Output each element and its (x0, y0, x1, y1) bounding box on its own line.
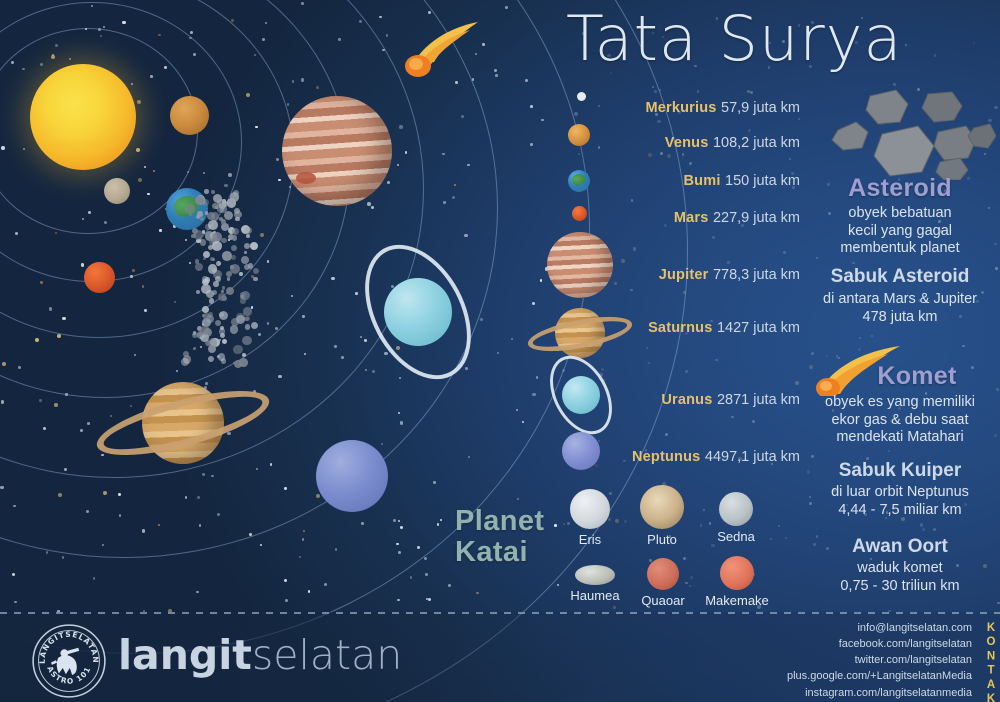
sabuk-asteroid-line1: di antara Mars & Jupiter (800, 291, 1000, 309)
asteroid-description: obyek bebatuan kecil yang gagal membentu… (800, 205, 1000, 258)
planet-name: Jupiter (659, 267, 709, 283)
asteroid-desc-line1: obyek bebatuan (800, 205, 1000, 223)
dwarf-planet-label: Eris (562, 532, 618, 547)
planet-distance: 1427 juta km (717, 320, 800, 336)
dwarf-planet-pluto: Pluto (632, 485, 692, 547)
asteroid-desc-line2: kecil yang gagal (800, 223, 1000, 241)
jupiter-orbit-body (282, 96, 392, 206)
planet-row-merkurius: Merkurius 57,9 juta km (645, 99, 800, 117)
right-info-column: Asteroid obyek bebatuan kecil yang gagal… (800, 0, 1000, 612)
sabuk-kuiper-line1: di luar orbit Neptunus (800, 484, 1000, 502)
planet-row-neptunus: Neptunus 4497,1 juta km (632, 448, 800, 466)
planet-distance: 108,2 juta km (713, 135, 800, 151)
planet-name: Uranus (661, 392, 712, 408)
earth-landmass (174, 196, 200, 218)
sabuk-kuiper-heading: Sabuk Kuiper (800, 460, 1000, 482)
dwarf-planet-makemake: Makemake (702, 556, 772, 608)
awan-oort-line2: 0,75 - 30 triliun km (800, 578, 1000, 596)
comet-illustration (404, 18, 494, 78)
contact-twitter[interactable]: twitter.com/langitselatan (787, 652, 972, 668)
awan-oort-heading: Awan Oort (800, 536, 1000, 558)
dwarf-planet-eris: Eris (562, 489, 618, 547)
planet-distance: 2871 juta km (717, 392, 800, 408)
asteroid-heading: Asteroid (800, 174, 1000, 203)
planet-name: Saturnus (648, 320, 712, 336)
planet-row-uranus: Uranus 2871 juta km (661, 391, 800, 409)
venus-orbit-body (170, 96, 209, 135)
mars-orbit-body (84, 262, 115, 293)
awan-oort-description: waduk komet 0,75 - 30 triliun km (800, 560, 1000, 595)
sabuk-kuiper-line2: 4,44 - 7,5 miliar km (800, 502, 1000, 520)
contact-googleplus[interactable]: plus.google.com/+LangitselatanMedia (787, 668, 972, 684)
neptune-orbit-body (316, 440, 388, 512)
dwarf-planet-haumea: Haumea (565, 565, 625, 603)
wordmark-bold: langit (118, 631, 252, 679)
planet-row-bumi: Bumi 150 juta km (684, 172, 800, 190)
contact-email[interactable]: info@langitselatan.com (787, 620, 972, 636)
komet-description: obyek es yang memiliki ekor gas & debu s… (800, 394, 1000, 447)
komet-desc-line1: obyek es yang memiliki (800, 394, 1000, 412)
langitselatan-seal-logo: LANGITSELATAN ASTRO 101 (30, 622, 108, 700)
planet-distance: 4497,1 juta km (705, 449, 800, 465)
sedna-body (719, 492, 753, 526)
planet-distance: 150 juta km (725, 173, 800, 189)
haumea-body (575, 565, 615, 585)
kontak-label: KONTAK (985, 622, 997, 702)
planet-name: Bumi (684, 173, 721, 189)
dwarf-planet-label: Pluto (632, 532, 692, 547)
contact-facebook[interactable]: facebook.com/langitselatan (787, 636, 972, 652)
planet-row-saturnus: Saturnus 1427 juta km (648, 319, 800, 337)
wordmark-light: selatan (252, 631, 402, 679)
dwarf-title-line2: Katai (455, 537, 544, 568)
sabuk-asteroid-heading: Sabuk Asteroid (800, 266, 1000, 288)
komet-heading: Komet (834, 362, 1000, 391)
makemake-body (720, 556, 754, 590)
planet-name: Mars (674, 210, 709, 226)
planet-name: Venus (665, 135, 709, 151)
sabuk-asteroid-description: di antara Mars & Jupiter 478 juta km (800, 291, 1000, 326)
dwarf-planet-label: Quaoar (634, 593, 692, 608)
planet-distance: 778,3 juta km (713, 267, 800, 283)
sun (30, 64, 136, 170)
dwarf-planets-title: Planet Katai (455, 506, 544, 569)
dwarf-planet-sedna: Sedna (710, 492, 762, 544)
sabuk-kuiper-description: di luar orbit Neptunus 4,44 - 7,5 miliar… (800, 484, 1000, 519)
dwarf-planet-label: Sedna (710, 529, 762, 544)
planet-distance: 57,9 juta km (721, 100, 800, 116)
awan-oort-line1: waduk komet (800, 560, 1000, 578)
footer-divider (0, 612, 1000, 614)
eris-body (570, 489, 610, 529)
solar-system-infographic: Tata Surya Merkurius 57,9 juta km Venus … (0, 0, 1000, 702)
mercury-orbit-body (104, 178, 130, 204)
asteroid-cluster-illustration (810, 88, 996, 180)
contact-instagram[interactable]: instagram.com/langitselatanmedia (787, 685, 972, 701)
planet-row-venus: Venus 108,2 juta km (665, 134, 800, 152)
dwarf-title-line1: Planet (455, 506, 544, 537)
komet-desc-line2: ekor gas & debu saat (800, 412, 1000, 430)
planet-name: Merkurius (645, 100, 716, 116)
langitselatan-wordmark: langitselatan (118, 631, 402, 679)
dwarf-planet-label: Makemake (702, 593, 772, 608)
sabuk-asteroid-line2: 478 juta km (800, 309, 1000, 327)
planet-row-mars: Mars 227,9 juta km (674, 209, 800, 227)
jupiter-great-red-spot (296, 172, 316, 184)
dwarf-planet-label: Haumea (565, 588, 625, 603)
contact-list: info@langitselatan.com facebook.com/lang… (787, 620, 972, 701)
quaoar-body (647, 558, 679, 590)
asteroid-desc-line3: membentuk planet (800, 240, 1000, 258)
planet-distance: 227,9 juta km (713, 210, 800, 226)
dwarf-planet-quaoar: Quaoar (634, 558, 692, 608)
planet-name: Neptunus (632, 449, 700, 465)
planet-distance-list: Merkurius 57,9 juta km Venus 108,2 juta … (540, 80, 800, 490)
planet-row-jupiter: Jupiter 778,3 juta km (659, 266, 800, 284)
komet-desc-line3: mendekati Matahari (800, 429, 1000, 447)
pluto-body (640, 485, 684, 529)
